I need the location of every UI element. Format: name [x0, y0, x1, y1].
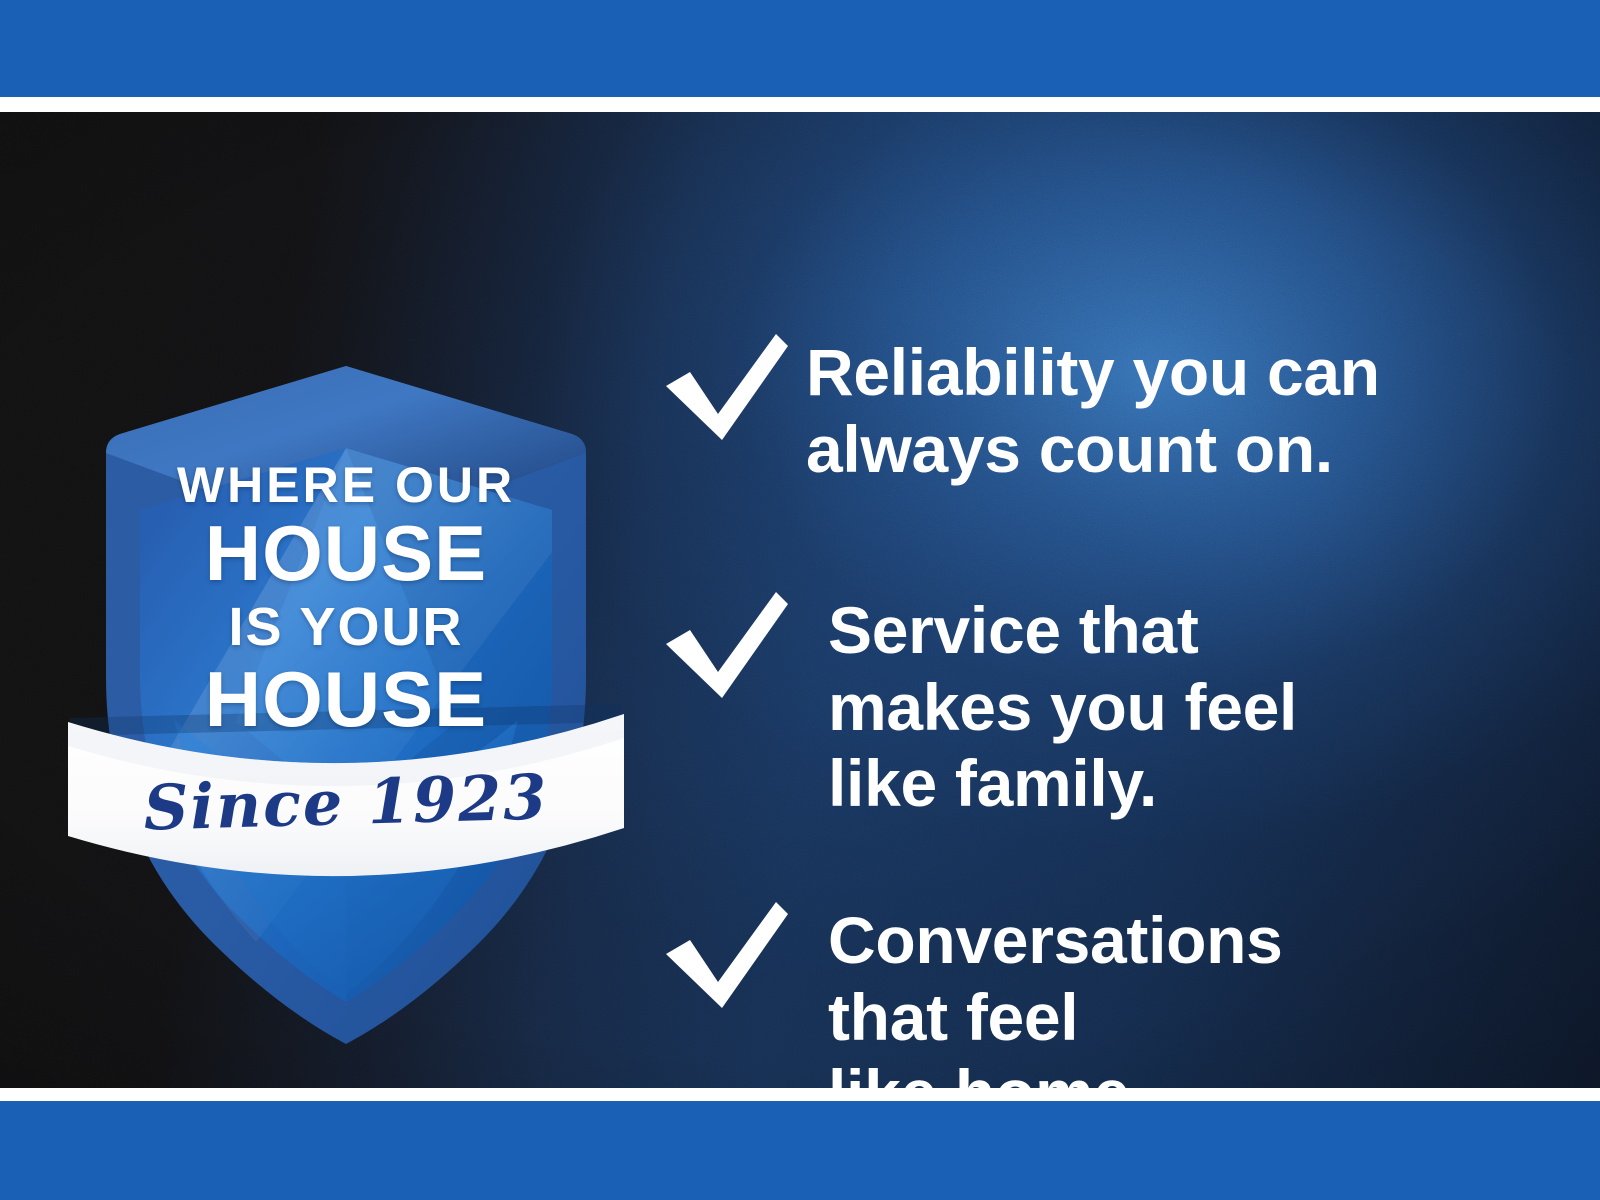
- benefit-text: Reliability you can always count on.: [806, 328, 1380, 487]
- top-brand-bar: [0, 0, 1600, 97]
- badge-tagline-line-2: HOUSE: [56, 514, 636, 592]
- check-icon: [660, 586, 792, 704]
- check-icon: [660, 328, 792, 446]
- benefit-list: Reliability you can always count on. Ser…: [660, 224, 1520, 1088]
- badge-tagline-line-1: WHERE OUR: [56, 460, 636, 510]
- benefit-item: Reliability you can always count on.: [660, 328, 1380, 487]
- bottom-brand-bar: [0, 1101, 1600, 1200]
- benefit-item: Service that makes you feel like family.: [660, 586, 1297, 822]
- benefit-item: Conversations that feel like home.: [660, 896, 1283, 1088]
- benefit-text: Conversations that feel like home.: [828, 896, 1283, 1088]
- badge-tagline-line-4: HOUSE: [56, 660, 636, 738]
- promo-graphic: WHERE OUR HOUSE IS YOUR HOUSE Since 1923…: [0, 0, 1600, 1200]
- hero-stage: WHERE OUR HOUSE IS YOUR HOUSE Since 1923…: [0, 112, 1600, 1088]
- benefit-text: Service that makes you feel like family.: [828, 586, 1297, 822]
- badge-tagline-line-3: IS YOUR: [56, 600, 636, 654]
- check-icon: [660, 896, 792, 1014]
- shield-badge: WHERE OUR HOUSE IS YOUR HOUSE Since 1923: [56, 252, 636, 1052]
